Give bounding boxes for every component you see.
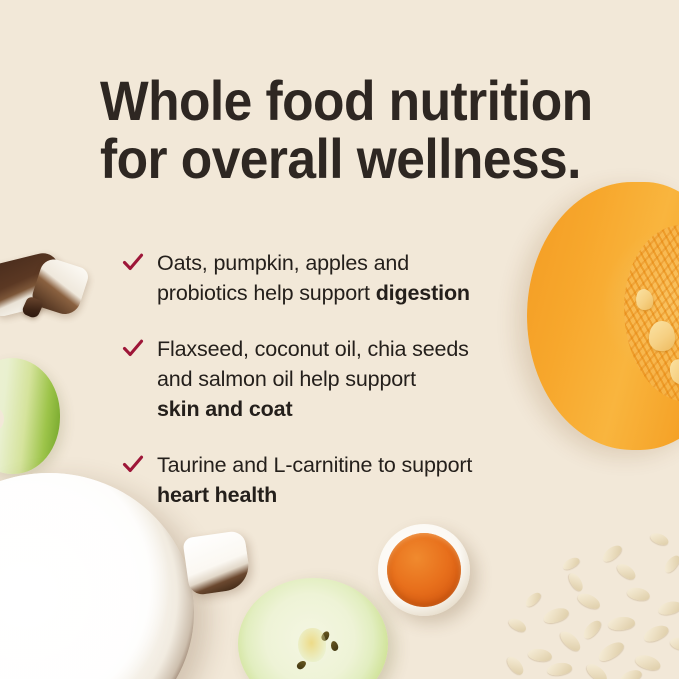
list-item: Oats, pumpkin, apples and probiotics hel… — [120, 248, 590, 308]
list-item-emphasis: skin and coat — [157, 397, 292, 421]
benefit-list: Oats, pumpkin, apples and probiotics hel… — [120, 248, 590, 510]
list-item-line: Flaxseed, coconut oil, chia seeds — [157, 337, 469, 361]
list-item-line: Oats, pumpkin, apples and — [157, 251, 409, 275]
list-item-line: probiotics help support — [157, 281, 376, 305]
list-item-line: and salmon oil help support — [157, 367, 416, 391]
marketing-graphic: Whole food nutrition for overall wellnes… — [0, 0, 679, 679]
page-title: Whole food nutrition for overall wellnes… — [100, 72, 560, 188]
list-item: Flaxseed, coconut oil, chia seeds and sa… — [120, 334, 590, 424]
list-item-emphasis: heart health — [157, 483, 277, 507]
headline-line-1: Whole food nutrition — [100, 72, 560, 130]
check-icon — [122, 252, 144, 274]
headline-line-2: for overall wellness. — [100, 130, 560, 188]
list-item-line: Taurine and L-carnitine to support — [157, 453, 472, 477]
check-icon — [122, 454, 144, 476]
list-item: Taurine and L-carnitine to support heart… — [120, 450, 590, 510]
list-item-emphasis: digestion — [376, 281, 470, 305]
check-icon — [122, 338, 144, 360]
